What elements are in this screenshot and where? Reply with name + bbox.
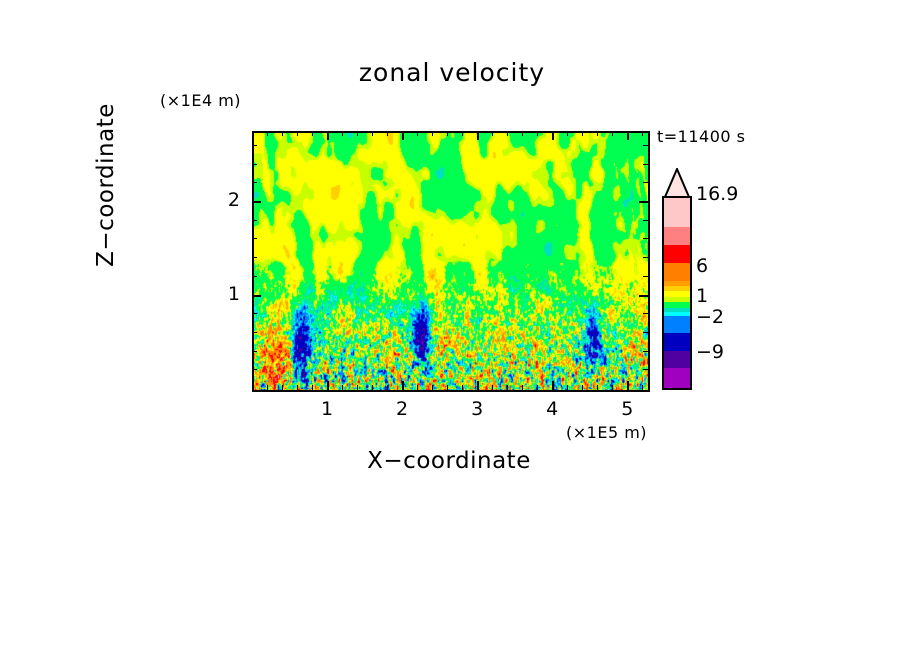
y-tick-label: 1 (210, 283, 240, 305)
x-tick (612, 385, 613, 390)
x-tick (567, 131, 568, 136)
y-tick (252, 276, 257, 277)
x-tick (417, 131, 418, 136)
figure-canvas: zonal velocity (×1E4 m) (×1E5 m) t=11400… (0, 0, 904, 654)
y-axis-unit-label: (×1E4 m) (160, 91, 241, 110)
y-tick (252, 313, 257, 314)
colorbar-band (664, 368, 690, 389)
x-axis-title: X−coordinate (252, 448, 646, 474)
x-tick (327, 381, 329, 390)
x-tick (372, 131, 373, 136)
x-tick (477, 131, 479, 140)
x-axis-unit-label: (×1E5 m) (566, 423, 647, 442)
y-tick (252, 295, 261, 297)
x-tick (627, 381, 629, 390)
y-tick (643, 332, 648, 333)
colorbar-band (664, 245, 690, 263)
x-tick (402, 131, 404, 140)
colorbar-band (664, 316, 690, 334)
y-tick (252, 220, 257, 221)
x-tick (642, 131, 643, 136)
x-tick (582, 131, 583, 136)
y-tick (643, 220, 648, 221)
colorbar (662, 196, 692, 390)
page-title: zonal velocity (0, 58, 904, 87)
x-tick (597, 385, 598, 390)
colorbar-band (664, 351, 690, 369)
x-tick (552, 131, 554, 140)
x-tick-label: 5 (612, 398, 642, 420)
x-tick (267, 131, 268, 136)
y-tick (252, 164, 257, 165)
colorbar-band (664, 227, 690, 245)
y-tick (252, 145, 257, 146)
x-tick (537, 131, 538, 136)
x-tick (492, 385, 493, 390)
x-tick (417, 385, 418, 390)
colorbar-tick-label: 6 (696, 255, 708, 277)
y-tick (252, 332, 257, 333)
x-tick (582, 385, 583, 390)
x-tick-label: 1 (312, 398, 342, 420)
x-tick (312, 385, 313, 390)
x-tick (297, 131, 298, 136)
colorbar-band (664, 198, 690, 228)
colorbar-band (664, 333, 690, 351)
x-tick (522, 131, 523, 136)
time-annotation: t=11400 s (657, 127, 746, 146)
x-tick (462, 385, 463, 390)
y-tick (252, 238, 257, 239)
x-tick-label: 4 (537, 398, 567, 420)
x-tick (432, 131, 433, 136)
colorbar-tick-label: −2 (696, 306, 724, 328)
y-tick (252, 369, 257, 370)
x-tick-label: 2 (387, 398, 417, 420)
x-tick (282, 131, 283, 136)
x-tick (387, 385, 388, 390)
colorbar-band (664, 263, 690, 281)
colorbar-extend-arrow-icon (662, 168, 692, 198)
x-tick (447, 131, 448, 136)
y-tick (643, 145, 648, 146)
x-tick (462, 131, 463, 136)
colorbar-tick-label: 16.9 (696, 183, 738, 205)
y-tick (252, 182, 257, 183)
x-tick (372, 385, 373, 390)
y-tick (252, 201, 261, 203)
x-tick (447, 385, 448, 390)
x-tick (432, 385, 433, 390)
x-tick (492, 131, 493, 136)
x-tick (342, 131, 343, 136)
x-tick (312, 131, 313, 136)
x-tick (597, 131, 598, 136)
x-tick (507, 385, 508, 390)
x-tick (612, 131, 613, 136)
x-tick (357, 131, 358, 136)
x-tick (342, 385, 343, 390)
x-tick (567, 385, 568, 390)
x-tick (642, 385, 643, 390)
x-tick (507, 131, 508, 136)
y-tick (639, 201, 648, 203)
x-tick (537, 385, 538, 390)
y-tick (643, 369, 648, 370)
x-tick-label: 3 (462, 398, 492, 420)
y-tick (639, 295, 648, 297)
x-tick (402, 381, 404, 390)
x-tick (297, 385, 298, 390)
y-tick-label: 2 (210, 189, 240, 211)
x-tick (357, 385, 358, 390)
y-tick (643, 351, 648, 352)
y-axis-title: Z−coordinate (93, 70, 119, 300)
x-tick (477, 381, 479, 390)
contour-plot-area (252, 131, 650, 392)
y-tick (643, 238, 648, 239)
velocity-field-heatmap (254, 133, 648, 390)
x-tick (282, 385, 283, 390)
x-tick (552, 381, 554, 390)
colorbar-tick-label: −9 (696, 341, 724, 363)
y-tick (643, 164, 648, 165)
y-tick (252, 257, 257, 258)
x-tick (267, 385, 268, 390)
y-tick (643, 182, 648, 183)
colorbar-tick-label: 1 (696, 285, 708, 307)
y-tick (643, 313, 648, 314)
x-tick (327, 131, 329, 140)
x-tick (387, 131, 388, 136)
y-tick (643, 257, 648, 258)
x-tick (627, 131, 629, 140)
y-tick (252, 351, 257, 352)
y-tick (643, 276, 648, 277)
x-tick (522, 385, 523, 390)
